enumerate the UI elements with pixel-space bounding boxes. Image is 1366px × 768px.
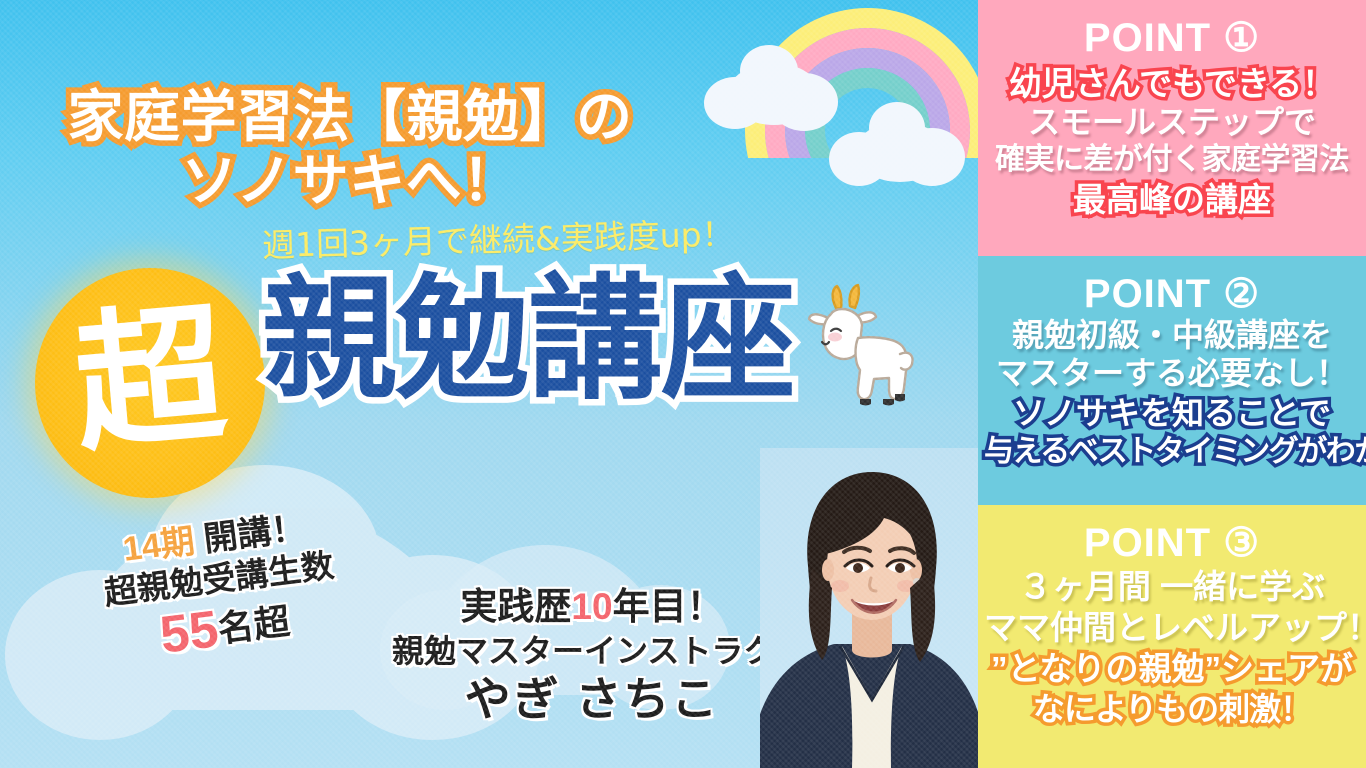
point-3-line-1: ３ヶ月間 一緒に学ぶ <box>984 569 1360 606</box>
point-1-line-1: 幼児さんでもできる！ <box>984 66 1360 103</box>
point-1-line-2: スモールステップで <box>984 105 1360 141</box>
point-title-1: POINT ① <box>984 16 1360 60</box>
experience-years: 10 <box>571 586 612 627</box>
point-panel-1: POINT ① 幼児さんでもできる！ スモールステップで 確実に差が付く家庭学習… <box>978 0 1366 256</box>
point-1-line-4: 最高峰の講座 <box>984 182 1360 219</box>
main-visual-panel: 家庭学習法【親勉】の ソノサキへ！ 週1回3ヶ月で継続&実践度up！ 超 親勉講… <box>0 0 978 768</box>
points-column: POINT ① 幼児さんでもできる！ スモールステップで 確実に差が付く家庭学習… <box>978 0 1366 768</box>
point-2-line-1: 親勉初級・中級講座を <box>984 318 1360 354</box>
course-title: 親勉講座 <box>262 272 794 407</box>
goat-icon <box>800 278 920 423</box>
instructor-experience: 実践歴10年目！ <box>392 585 792 629</box>
instructor-role: 親勉マスターインストラクター <box>392 632 792 670</box>
point-2-line-3: ソノサキを知ることで <box>984 396 1360 432</box>
headline-line-1: 家庭学習法【親勉】の <box>68 85 633 148</box>
stats-count: 55 <box>157 601 221 666</box>
stats-count-unit: 名超 <box>216 601 292 650</box>
point-2-line-4: 与えるベストタイミングがわかる！ <box>984 435 1360 469</box>
super-badge: 超 <box>35 268 265 498</box>
instructor-name: やぎ さちこ <box>392 672 792 727</box>
headline-line-2: ソノサキへ！ <box>0 149 700 212</box>
point-panel-2: POINT ② 親勉初級・中級講座を マスターする必要なし！ ソノサキを知ること… <box>978 256 1366 505</box>
point-3-line-2: ママ仲間とレベルアップ！ <box>984 610 1360 647</box>
stats-term: 14期 <box>121 522 197 568</box>
cloud-shape <box>728 63 820 125</box>
point-title-2: POINT ② <box>984 272 1360 316</box>
experience-prefix: 実践歴 <box>460 586 571 627</box>
point-panel-3: POINT ③ ３ヶ月間 一緒に学ぶ ママ仲間とレベルアップ！ ”となりの親勉”… <box>978 505 1366 768</box>
poster-canvas: 家庭学習法【親勉】の ソノサキへ！ 週1回3ヶ月で継続&実践度up！ 超 親勉講… <box>0 0 1366 768</box>
point-3-line-4: なによりもの刺激！ <box>984 692 1360 728</box>
point-2-line-2: マスターする必要なし！ <box>984 356 1360 392</box>
cloud-shape <box>855 122 945 182</box>
point-1-line-3: 確実に差が付く家庭学習法 <box>984 143 1360 177</box>
point-3-line-3: ”となりの親勉”シェアが <box>984 651 1360 688</box>
instructor-block: 実践歴10年目！ 親勉マスターインストラクター やぎ さちこ <box>392 585 792 727</box>
badge-label: 超 <box>25 258 274 507</box>
experience-suffix: 年目！ <box>613 586 724 627</box>
instructor-photo <box>760 448 978 768</box>
point-title-3: POINT ③ <box>984 521 1360 565</box>
